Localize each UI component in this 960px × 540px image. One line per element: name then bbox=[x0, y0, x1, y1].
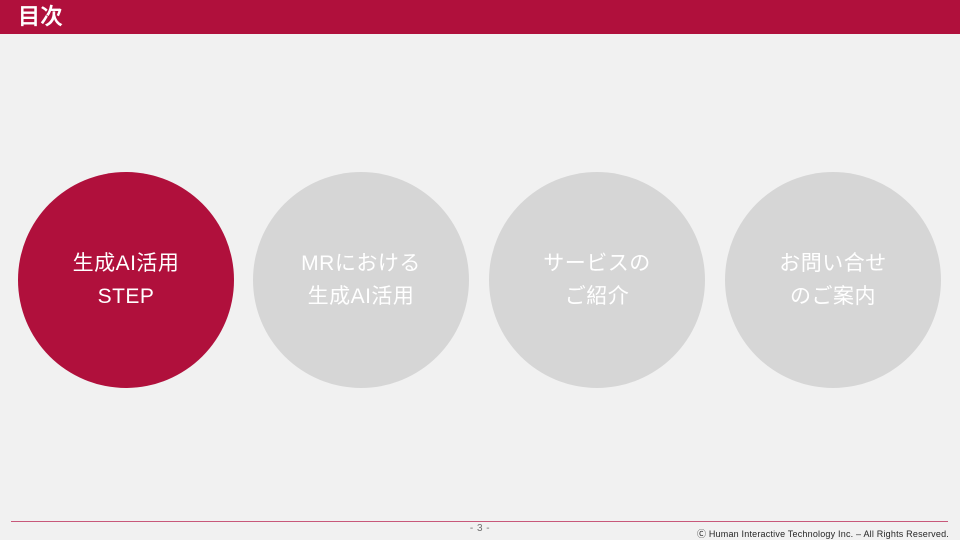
slide: 目次 生成AI活用 STEP MRにおける 生成AI活用 サービスの ご紹介 お… bbox=[0, 0, 960, 540]
agenda-item-2-line-2: 生成AI活用 bbox=[308, 280, 415, 313]
agenda-item-3[interactable]: サービスの ご紹介 bbox=[489, 172, 705, 388]
copyright-notice: Ⓒ Human Interactive Technology Inc. – Al… bbox=[697, 527, 949, 540]
agenda-item-1[interactable]: 生成AI活用 STEP bbox=[18, 172, 234, 388]
header-bar bbox=[0, 0, 960, 34]
footer-divider bbox=[11, 521, 948, 522]
agenda-item-1-line-1: 生成AI活用 bbox=[73, 247, 180, 280]
agenda-circle-row: 生成AI活用 STEP MRにおける 生成AI活用 サービスの ご紹介 お問い合… bbox=[0, 172, 960, 388]
page-title: 目次 bbox=[18, 0, 63, 34]
agenda-item-2-line-1: MRにおける bbox=[301, 247, 421, 280]
agenda-item-4[interactable]: お問い合せ のご案内 bbox=[725, 172, 941, 388]
agenda-item-3-line-2: ご紹介 bbox=[565, 280, 630, 313]
agenda-item-4-line-2: のご案内 bbox=[790, 280, 876, 313]
agenda-item-3-line-1: サービスの bbox=[543, 247, 651, 280]
agenda-item-2[interactable]: MRにおける 生成AI活用 bbox=[253, 172, 469, 388]
agenda-item-1-line-2: STEP bbox=[98, 280, 155, 313]
agenda-item-4-line-1: お問い合せ bbox=[779, 247, 887, 280]
